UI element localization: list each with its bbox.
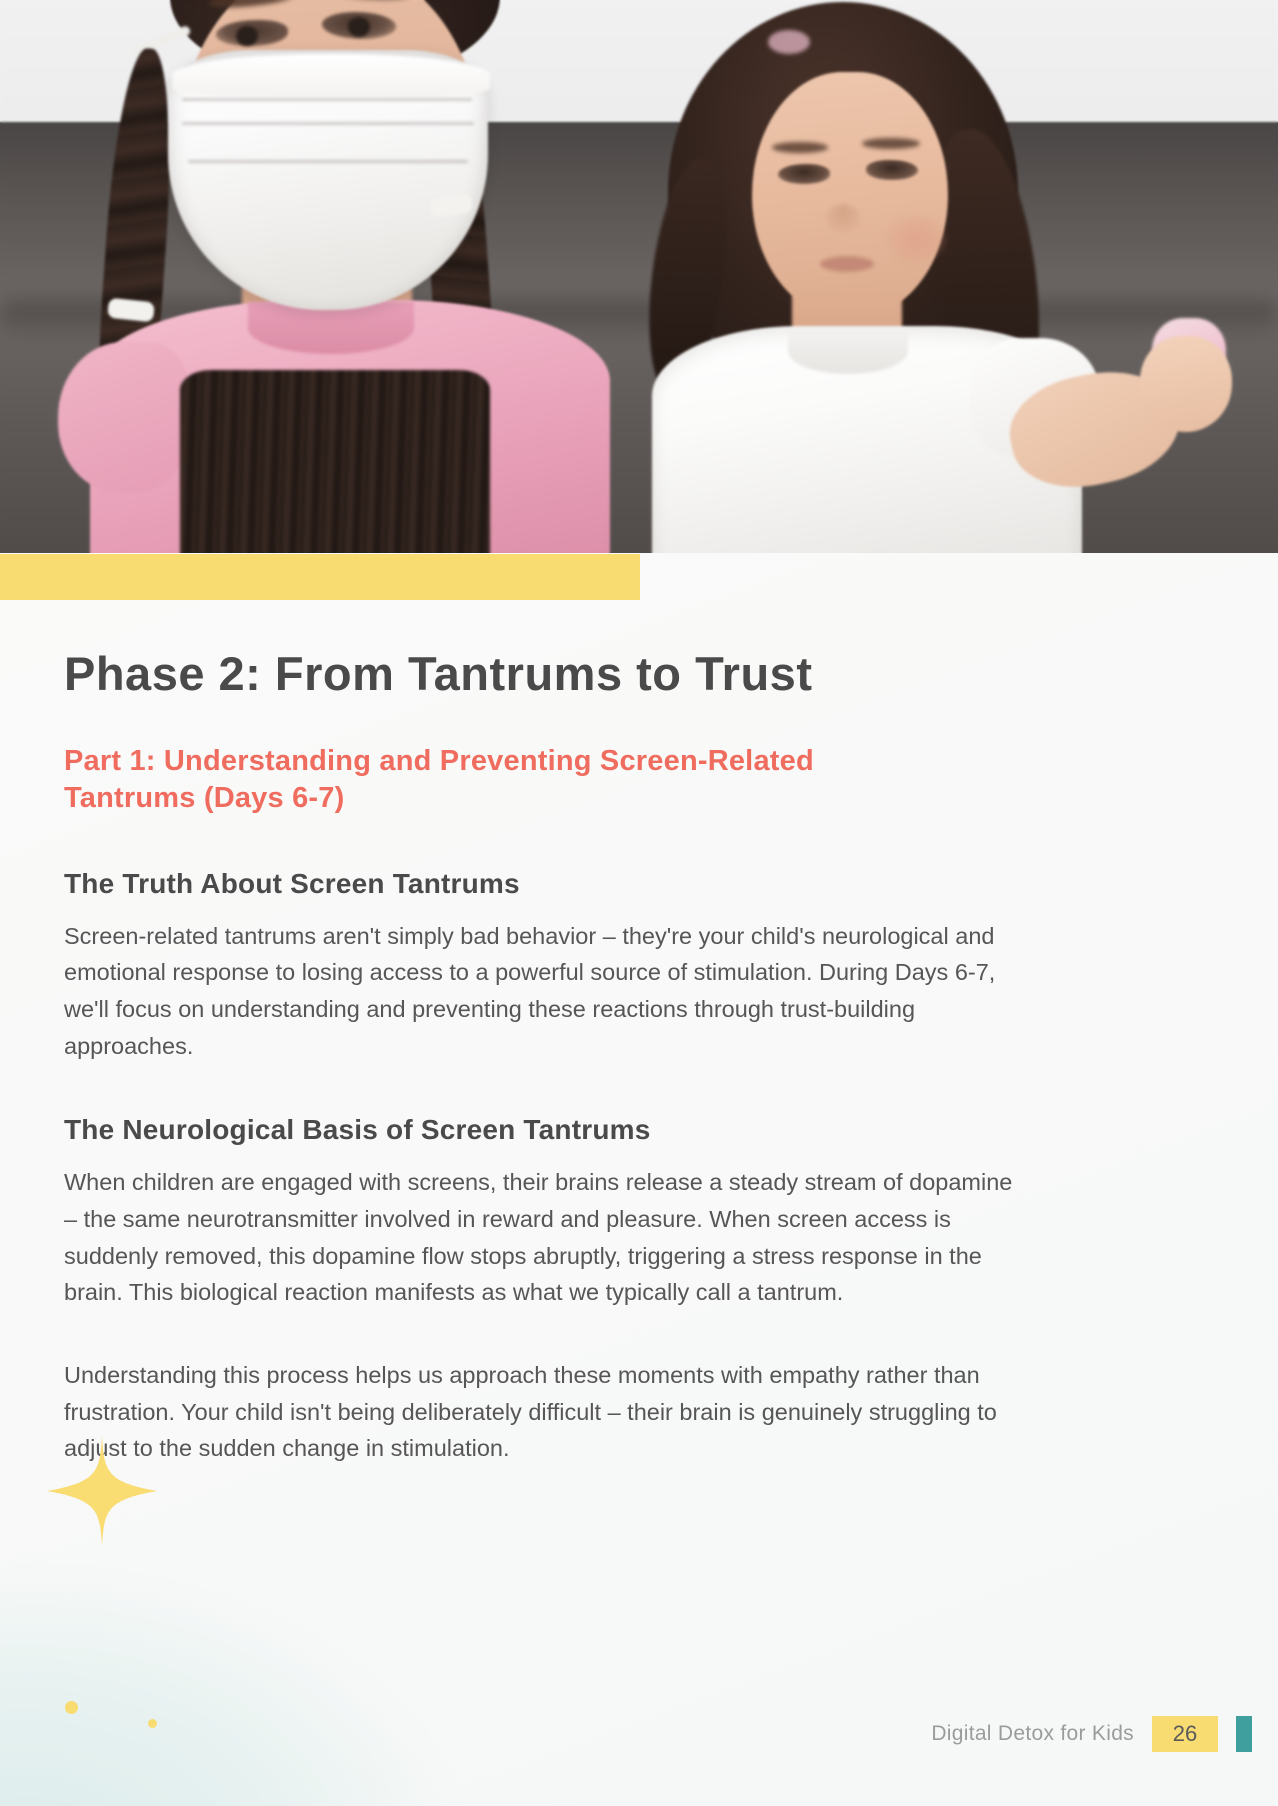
child-right-eye-left bbox=[778, 164, 830, 184]
child-right-face bbox=[752, 72, 948, 318]
yellow-accent-bar bbox=[0, 554, 640, 600]
section-paragraph: Understanding this process helps us appr… bbox=[64, 1357, 1024, 1467]
child-right-cheek bbox=[888, 216, 946, 262]
section-heading-neurological-basis: The Neurological Basis of Screen Tantrum… bbox=[64, 1112, 1064, 1148]
section-heading-truth-about-screen-tantrums: The Truth About Screen Tantrums bbox=[64, 866, 1064, 902]
child-left-sleeve bbox=[58, 342, 188, 492]
child-left-mask-pleat bbox=[182, 122, 474, 125]
decorative-dot bbox=[65, 1701, 78, 1714]
decorative-dot bbox=[148, 1719, 157, 1728]
page-number-badge: 26 bbox=[1152, 1716, 1218, 1752]
page-subtitle: Part 1: Understanding and Preventing Scr… bbox=[64, 743, 944, 818]
photo-child-left bbox=[30, 0, 650, 553]
child-right-eyebrow-right bbox=[862, 138, 920, 149]
child-left-pupil-left bbox=[236, 26, 258, 46]
child-right-hand bbox=[1140, 336, 1232, 432]
page-footer: Digital Detox for Kids 26 bbox=[931, 1716, 1252, 1752]
child-left-pupil-right bbox=[348, 17, 370, 37]
child-right-mouth bbox=[820, 256, 874, 272]
page-number-tick-marker bbox=[1236, 1716, 1252, 1752]
child-right-eyebrow-left bbox=[772, 142, 828, 153]
page-content: Phase 2: From Tantrums to Trust Part 1: … bbox=[64, 600, 1064, 1467]
child-left-hair-length bbox=[180, 370, 490, 553]
child-right-eye-right bbox=[866, 160, 918, 180]
footer-book-title: Digital Detox for Kids bbox=[931, 1722, 1134, 1746]
child-right-tshirt-collar bbox=[788, 328, 908, 374]
section-paragraph: Screen-related tantrums aren't simply ba… bbox=[64, 918, 1024, 1065]
child-right-nose bbox=[826, 204, 860, 232]
ebook-page: Phase 2: From Tantrums to Trust Part 1: … bbox=[0, 0, 1278, 1806]
child-left-mask-pleat bbox=[182, 98, 472, 101]
page-title: Phase 2: From Tantrums to Trust bbox=[64, 648, 1064, 701]
photo-child-right bbox=[640, 8, 1160, 553]
child-right-hair-accessory bbox=[768, 30, 810, 54]
child-left-mask-pleat bbox=[188, 160, 468, 163]
hero-photo bbox=[0, 0, 1278, 553]
section-paragraph: When children are engaged with screens, … bbox=[64, 1164, 1024, 1311]
child-left-mask-top-edge bbox=[172, 54, 490, 96]
